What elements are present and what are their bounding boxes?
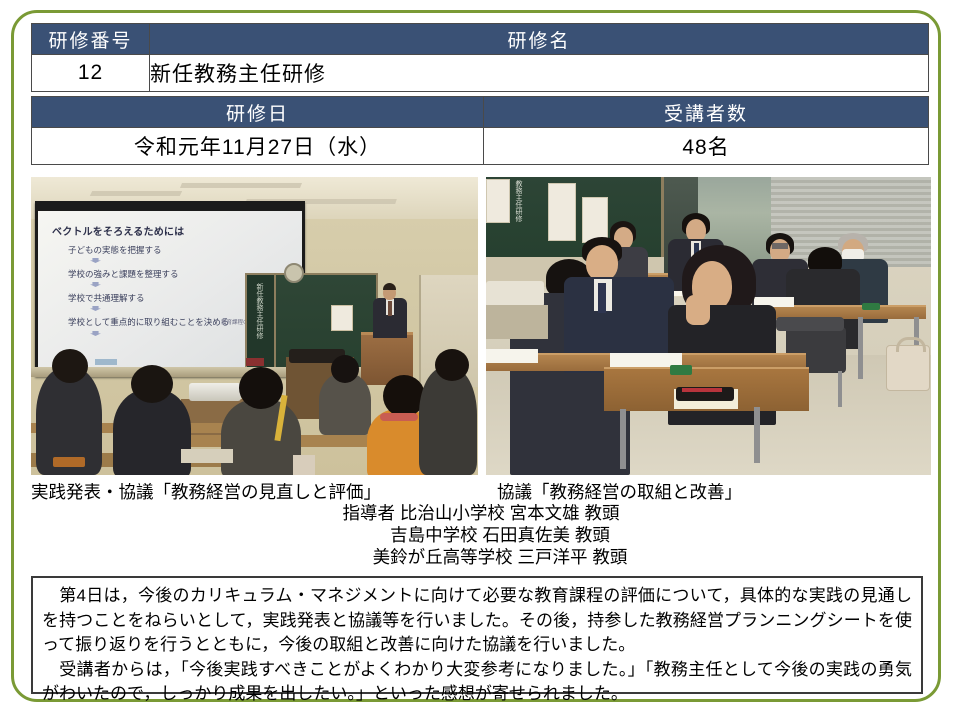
summary-paragraph-1-text: 第4日は，今後のカリキュラム・マネジメントに向けて必要な教育課程の評価について，… xyxy=(42,586,912,654)
course-info-table: 研修番号 研修名 12 新任教務主任研修 xyxy=(31,23,929,92)
participant-tie xyxy=(598,283,606,313)
table-row: 令和元年11月27日（水） 48名 xyxy=(32,128,929,165)
instructor-line-2: 吉島中学校 石田真佐美 教頭 xyxy=(31,524,931,546)
instructor-line-1: 指導者 比治山小学校 宮本文雄 教頭 xyxy=(31,502,931,524)
stationery xyxy=(670,365,692,375)
pencil-case-stripe xyxy=(682,388,722,392)
wall-clock-icon xyxy=(284,263,304,283)
summary-textbox: 第4日は，今後のカリキュラム・マネジメントに向けて必要な教育課程の評価について，… xyxy=(31,576,923,694)
cell-training-date: 令和元年11月27日（水） xyxy=(32,128,484,165)
scarf xyxy=(380,413,418,421)
column-header-training-date: 研修日 xyxy=(32,97,484,128)
table-row: 12 新任教務主任研修 xyxy=(32,55,929,92)
speaker-tie xyxy=(388,301,392,316)
photo-captions: 実践発表・協議「教務経営の見直しと評価」 協議「教務経営の取組と改善」 指導者 … xyxy=(31,479,931,568)
down-arrow-icon xyxy=(90,282,101,287)
document-page: 研修番号 研修名 12 新任教務主任研修 研修日 受講者数 令和元年11月27日… xyxy=(0,0,960,720)
stationery xyxy=(862,303,880,310)
chair-leg xyxy=(838,371,842,407)
photo-row: ベクトルをそろえるためには 子どもの実態を把握する 学校の強みと課題を整理する … xyxy=(31,177,931,475)
ceiling-panel xyxy=(90,191,182,196)
ceiling-panel xyxy=(180,183,302,188)
audience-member xyxy=(419,367,477,475)
audience-member xyxy=(221,399,301,475)
audience-head xyxy=(131,365,173,403)
slide-bullet-4: 学校として重点的に取り組むことを決める xyxy=(68,316,229,328)
summary-paragraph-2: 受講者からは，「今後実践すべきことがよくわかり大変参考になりました。」「教務主任… xyxy=(42,658,912,707)
audience-head xyxy=(239,367,283,409)
photo-lecture-session: ベクトルをそろえるためには 子どもの実態を把握する 学校の強みと課題を整理する … xyxy=(31,177,478,475)
blackboard-text: 教務主任研修 xyxy=(514,180,523,222)
slide-bullet-2: 学校の強みと課題を整理する xyxy=(68,268,179,280)
caption-left: 実践発表・協議「教務経営の見直しと評価」 xyxy=(31,479,381,504)
audience-head xyxy=(435,349,469,381)
participant-hand xyxy=(686,295,710,325)
participant-head xyxy=(586,245,618,281)
column-header-course-number: 研修番号 xyxy=(32,24,150,55)
pencil-case xyxy=(53,457,85,467)
photo-group-discussion: 教務主任研修 指導者 xyxy=(486,177,931,475)
speaker-hair xyxy=(383,283,396,290)
cell-course-number: 12 xyxy=(32,55,150,92)
summary-paragraph-2-text: 受講者からは，「今後実践すべきことがよくわかり大変参考になりました。」「教務主任… xyxy=(42,660,912,704)
date-info-table: 研修日 受講者数 令和元年11月27日（水） 48名 xyxy=(31,96,929,165)
slide-bullet-3: 学校で共通理解する xyxy=(68,292,145,304)
table-row-header: 研修番号 研修名 xyxy=(32,24,929,55)
eyeglasses-icon xyxy=(772,243,788,249)
cell-participant-count: 48名 xyxy=(484,128,929,165)
lecture-room-scene: ベクトルをそろえるためには 子どもの実態を把握する 学校の強みと課題を整理する … xyxy=(31,177,478,475)
handout xyxy=(181,449,233,463)
chalk-tray-item xyxy=(95,359,117,365)
document-sheet xyxy=(486,349,538,363)
summary-paragraph-1: 第4日は，今後のカリキュラム・マネジメントに向けて必要な教育課程の評価について，… xyxy=(42,584,912,658)
down-arrow-icon xyxy=(90,258,101,263)
blackboard-text: 新任教務主任研修 xyxy=(255,283,264,339)
caption-row: 実践発表・協議「教務経営の見直しと評価」 協議「教務経営の取組と改善」 xyxy=(31,479,931,502)
handbag-handle xyxy=(896,337,926,352)
posted-paper xyxy=(548,183,576,241)
down-arrow-icon xyxy=(90,306,101,311)
table-row-header: 研修日 受講者数 xyxy=(32,97,929,128)
slide-title: ベクトルをそろえるためには xyxy=(52,223,184,238)
printer xyxy=(486,281,544,307)
column-header-course-name: 研修名 xyxy=(150,24,929,55)
instructor-line-3: 美鈴が丘高等学校 三戸洋平 教頭 xyxy=(31,546,931,568)
audience-head xyxy=(331,355,359,383)
printer-stand xyxy=(486,305,548,339)
audience-head xyxy=(52,349,88,383)
chalk-tray-item xyxy=(246,358,264,366)
down-arrow-icon xyxy=(90,331,101,336)
desk-leg xyxy=(620,409,626,469)
discussion-room-scene: 教務主任研修 指導者 xyxy=(486,177,931,475)
desk-leg xyxy=(858,317,863,379)
column-header-participant-count: 受講者数 xyxy=(484,97,929,128)
projector xyxy=(189,383,241,401)
posted-paper xyxy=(331,305,353,331)
handout xyxy=(293,455,315,475)
posted-paper xyxy=(486,179,510,223)
chair-back xyxy=(776,317,844,331)
desk-leg xyxy=(754,407,760,463)
caption-right: 協議「教務経営の取組と改善」 xyxy=(497,479,742,504)
cell-course-name: 新任教務主任研修 xyxy=(150,55,929,92)
slide-bullet-1: 子どもの実態を把握する xyxy=(68,244,162,256)
